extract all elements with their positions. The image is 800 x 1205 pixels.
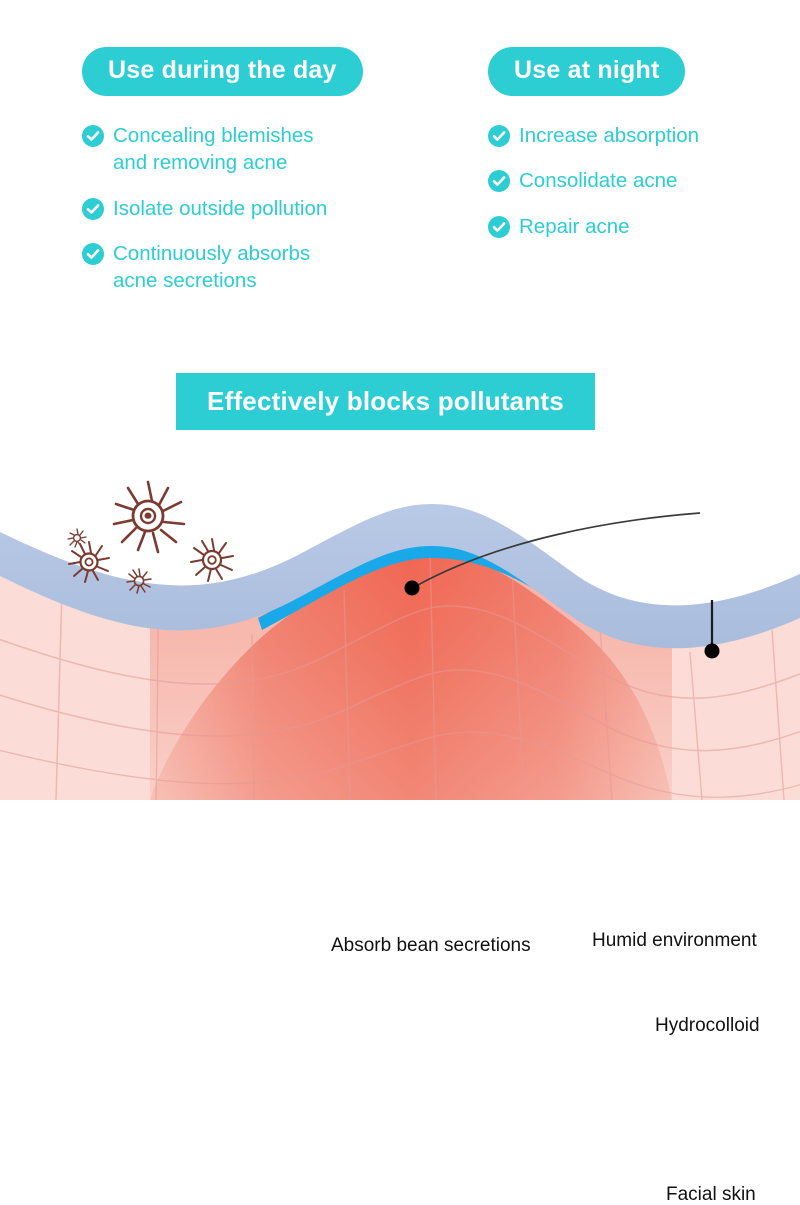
pollutants-banner: Effectively blocks pollutants	[176, 373, 595, 430]
benefits-column-night: Use at night Increase absorption	[488, 47, 788, 256]
list-item-label: Consolidate acne	[519, 167, 677, 194]
list-item: Increase absorption	[488, 122, 788, 149]
label-humid-environment: Humid environment	[592, 931, 757, 950]
bacteria-icon	[191, 539, 233, 581]
night-benefit-list: Increase absorption Consolidate acne	[488, 122, 788, 240]
check-circle-icon	[82, 125, 104, 147]
list-item: Continuously absorbs acne secretions	[82, 240, 442, 295]
check-circle-icon	[82, 198, 104, 220]
check-circle-icon	[82, 243, 104, 265]
list-item-label: Repair acne	[519, 213, 630, 240]
skin-cross-section-diagram: Absorb bean secretions Humid environment…	[0, 440, 800, 800]
list-item: Consolidate acne	[488, 167, 788, 194]
bacteria-icon	[68, 529, 86, 547]
check-circle-icon	[488, 170, 510, 192]
bacteria-icon	[114, 482, 184, 552]
label-acne: Acne	[378, 1063, 435, 1088]
pollutants-banner-label: Effectively blocks pollutants	[207, 386, 564, 417]
day-title-pill: Use during the day	[82, 47, 363, 96]
benefits-column-day: Use during the day Concealing blemishes …	[82, 47, 442, 310]
list-item: Isolate outside pollution	[82, 195, 442, 222]
crest-callout-dot	[405, 581, 420, 596]
list-item-label: Continuously absorbs acne secretions	[113, 240, 310, 295]
check-circle-icon	[488, 216, 510, 238]
list-item-label: Isolate outside pollution	[113, 195, 327, 222]
night-title-pill: Use at night	[488, 47, 685, 96]
hydrocolloid-callout-dot	[705, 644, 720, 659]
list-item-label: Increase absorption	[519, 122, 699, 149]
list-item: Repair acne	[488, 213, 788, 240]
benefits-section: Use during the day Concealing blemishes …	[0, 0, 800, 340]
list-item-label: Concealing blemishes and removing acne	[113, 122, 314, 177]
check-circle-icon	[488, 125, 510, 147]
label-facial-skin: Facial skin	[666, 1185, 756, 1204]
list-item: Concealing blemishes and removing acne	[82, 122, 442, 177]
label-hydrocolloid: Hydrocolloid	[655, 1016, 760, 1035]
day-benefit-list: Concealing blemishes and removing acne I…	[82, 122, 442, 294]
label-absorb-bean-secretions: Absorb bean secretions	[331, 936, 531, 955]
